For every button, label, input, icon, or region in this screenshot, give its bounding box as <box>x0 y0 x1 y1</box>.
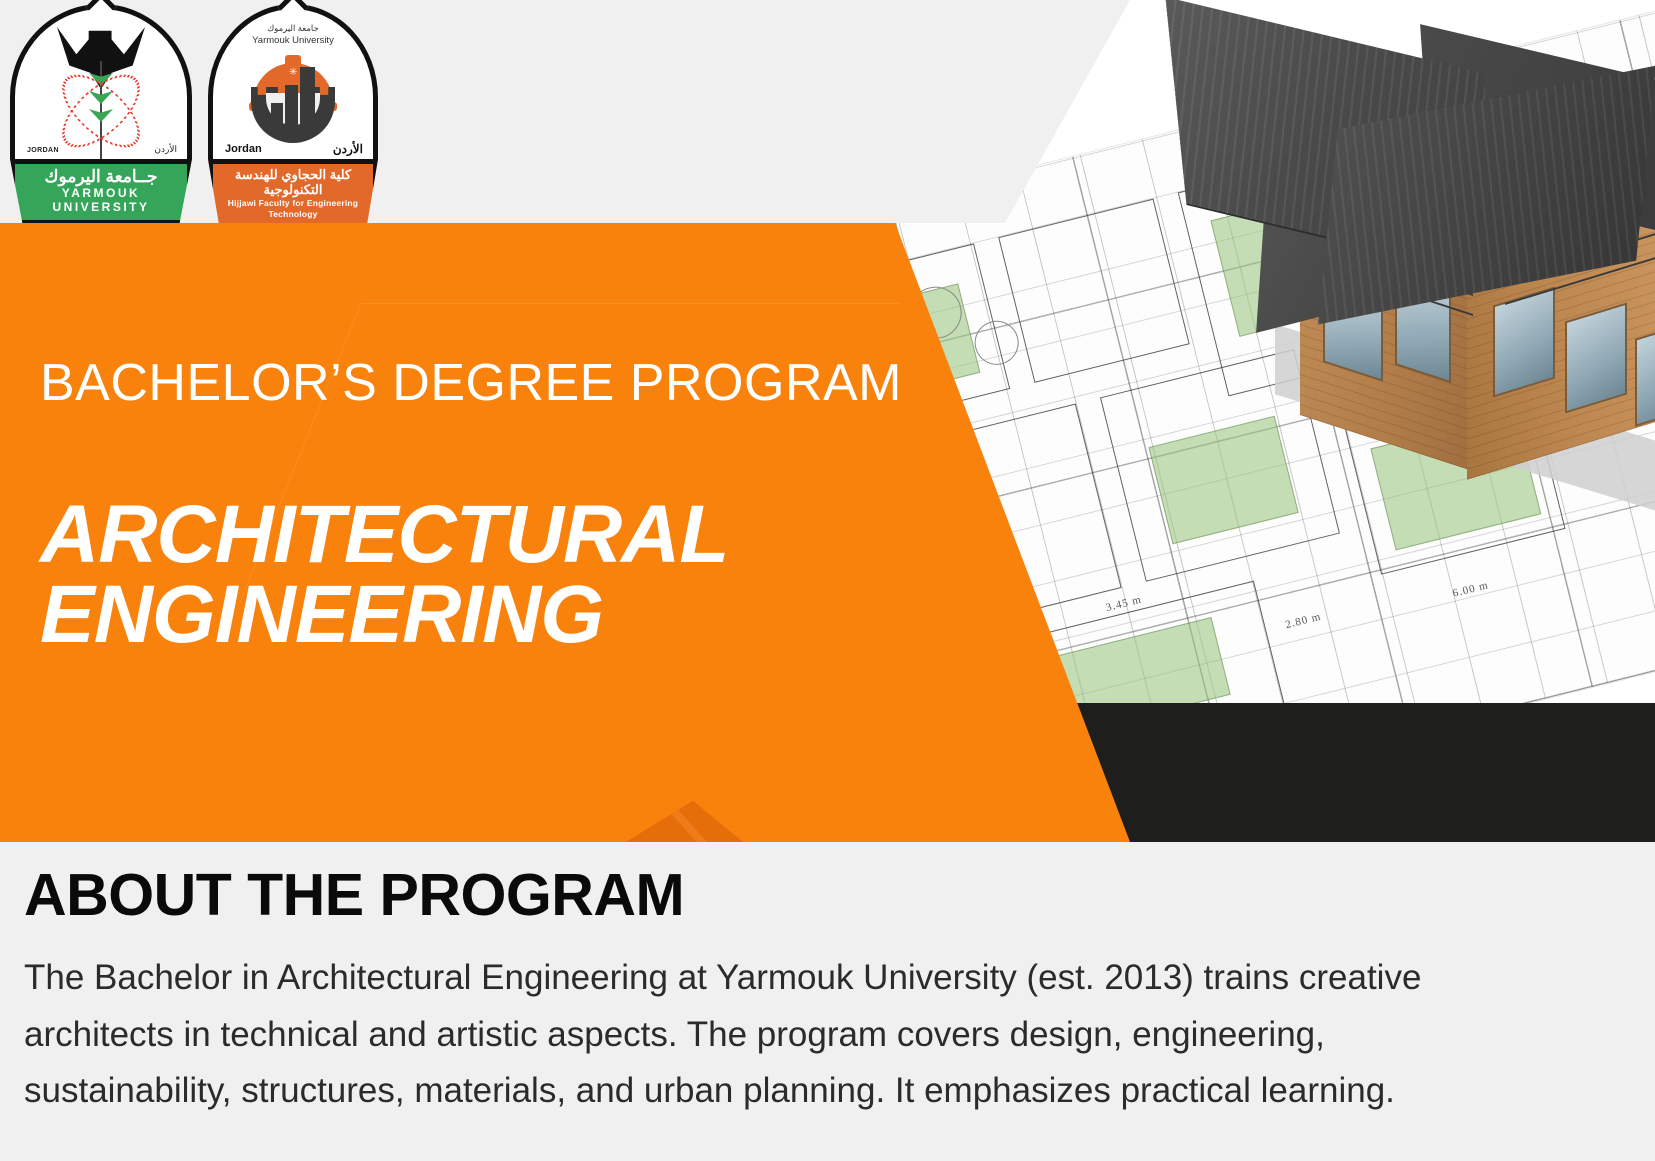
hijjawi-name-band: كلية الحجاوي للهندسة التكنولوجية Hijjawi… <box>208 159 378 230</box>
atom-orbit-icon <box>53 67 149 155</box>
crest-finial-icon <box>277 0 308 23</box>
hijjawi-university-ar: جامعة اليرموك <box>213 23 373 34</box>
program-title-line-1: ARCHITECTURAL <box>40 495 728 575</box>
program-title: ARCHITECTURAL ENGINEERING <box>40 495 728 654</box>
buildings-icon <box>271 67 315 129</box>
logo-row: JORDAN الأردن جــامعة اليرموك YARMOUK UN… <box>10 4 378 230</box>
degree-kicker: BACHELOR’S DEGREE PROGRAM <box>40 353 902 413</box>
house-window <box>1635 321 1655 427</box>
house-window <box>1565 303 1627 414</box>
house-window <box>1493 287 1555 398</box>
crest-jordan-en: JORDAN <box>27 147 59 154</box>
hijjawi-university-en: Yarmouk University <box>213 35 373 46</box>
hijjawi-name-en: Hijjawi Faculty for Engineering Technolo… <box>219 198 367 220</box>
crest-jordan-ar: الأردن <box>154 144 177 155</box>
yarmouk-name-band: جــامعة اليرموك YARMOUK UNIVERSITY <box>10 159 192 225</box>
hijjawi-faculty-logo: جامعة اليرموك Yarmouk University ✳ Jorda… <box>208 4 378 230</box>
crest-jordan-en: Jordan <box>225 143 262 155</box>
crest-jordan-ar: الأردن <box>333 142 363 156</box>
about-heading: ABOUT THE PROGRAM <box>24 861 684 929</box>
yarmouk-name-en: YARMOUK UNIVERSITY <box>21 186 181 215</box>
poster-page: 6.00 m 3.45 m 2.80 m 6.00 m 4.20 m <box>0 0 1655 1161</box>
about-section: ABOUT THE PROGRAM The Bachelor in Archit… <box>0 842 1655 1161</box>
yarmouk-name-ar: جــامعة اليرموك <box>21 168 181 186</box>
program-title-line-2: ENGINEERING <box>40 575 728 655</box>
house-3d-model <box>1095 0 1655 470</box>
yarmouk-university-logo: JORDAN الأردن جــامعة اليرموك YARMOUK UN… <box>10 4 192 225</box>
hijjawi-name-ar: كلية الحجاوي للهندسة التكنولوجية <box>219 168 367 198</box>
about-body-text: The Bachelor in Architectural Engineerin… <box>24 950 1524 1120</box>
